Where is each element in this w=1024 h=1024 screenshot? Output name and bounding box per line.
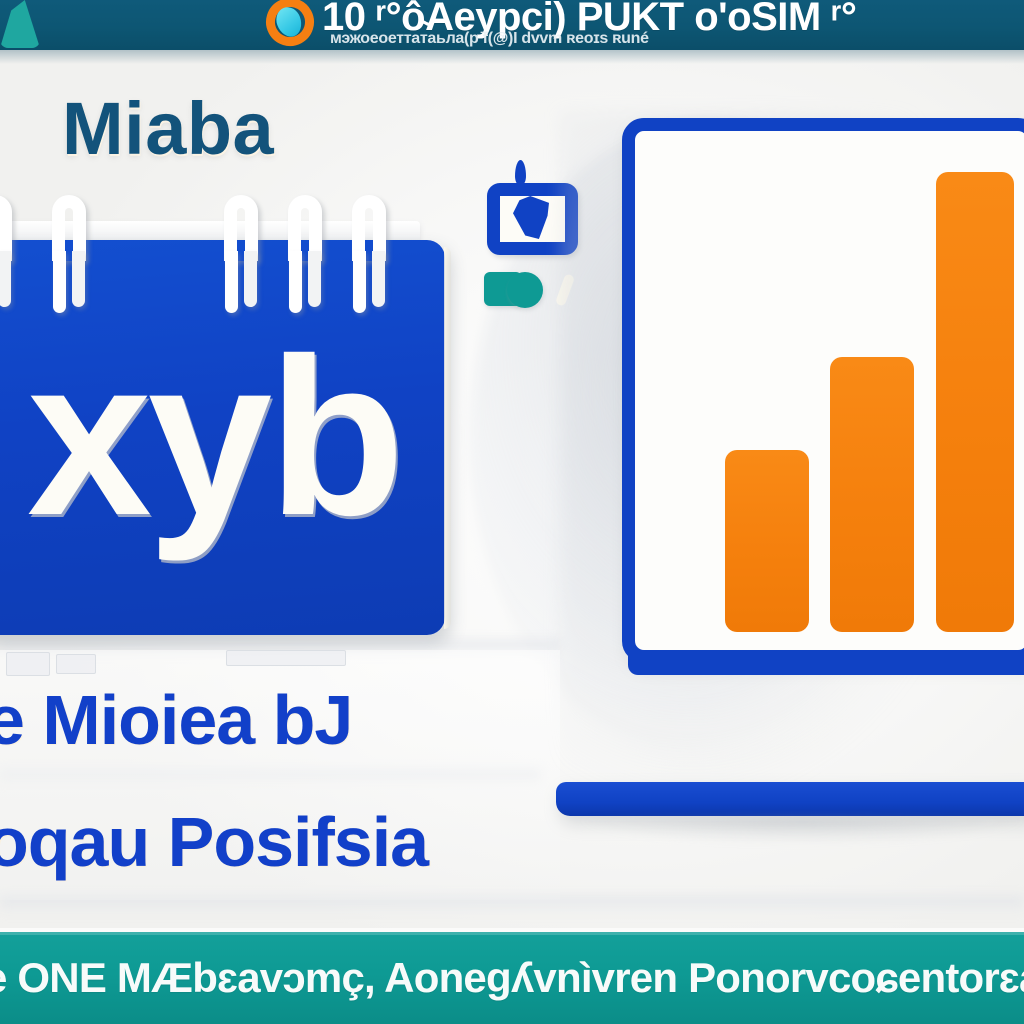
page-title: Miaba	[62, 86, 274, 171]
spiral-binding-icon	[52, 195, 86, 313]
coil-leg-back	[72, 251, 85, 307]
coil-leg-front	[225, 251, 238, 313]
coil-leg-front	[289, 251, 302, 313]
spiral-binding-icon	[352, 195, 386, 313]
droplet-ring-logo-icon	[262, 0, 318, 50]
spiral-binding-icon	[0, 195, 12, 313]
footer-bar: e ONE MÆbɛavɔmç, Aonegʎvnìvren Ponorvcoɕ…	[0, 932, 1024, 1024]
notebook-page-edge	[444, 247, 451, 629]
spiral-notebook-card: xyb	[0, 195, 446, 637]
laptop-base-shadow	[580, 818, 1024, 844]
coil-leg-back	[308, 251, 321, 307]
coil-leg-front	[53, 251, 66, 313]
coil-leg-back	[372, 251, 385, 307]
laptop-base	[556, 782, 1024, 816]
coil-leg-back	[244, 251, 257, 307]
paper-streak-mid	[0, 770, 540, 784]
chart-bar-3	[936, 172, 1014, 632]
top-banner: 10 ʳ°ô̴Aeypci) PUKT o'oSIM ʳ° мэжоеоетта…	[0, 0, 1024, 50]
laptop-screen-neck	[628, 655, 1024, 675]
paper-streak-bottom	[0, 896, 1024, 914]
body-text-line-2: oqau Posifsia	[0, 802, 586, 882]
footer-text: e ONE MÆbɛavɔmç, Aonegʎvnìvren Ponorvcoɕ…	[0, 954, 1024, 1002]
chart-bar-2	[830, 357, 914, 632]
spiral-binding-icon	[288, 195, 322, 313]
body-text-line-1: e Mioiea bJ	[0, 680, 586, 760]
coil-leg-back	[0, 251, 11, 307]
banner-drop-shadow	[0, 50, 1024, 64]
coil-leg-front	[353, 251, 366, 313]
ghost-chip-a	[6, 652, 50, 676]
infographic-canvas: 10 ʳ°ô̴Aeypci) PUKT o'oSIM ʳ° мэжоеоетта…	[0, 0, 1024, 1024]
ghost-chip-c	[226, 650, 346, 666]
chart-bar-1	[725, 450, 809, 632]
ghost-chip-b	[56, 654, 96, 674]
footer-top-highlight	[0, 932, 1024, 935]
banner-subheadline: мэжоеоеттатаьла(р ̄f(@)Ɩ dvvm ʀeoɪs ʀuné	[330, 30, 1024, 48]
spiral-binding-icon	[224, 195, 258, 313]
circle-swatch-icon[interactable]	[507, 272, 543, 308]
